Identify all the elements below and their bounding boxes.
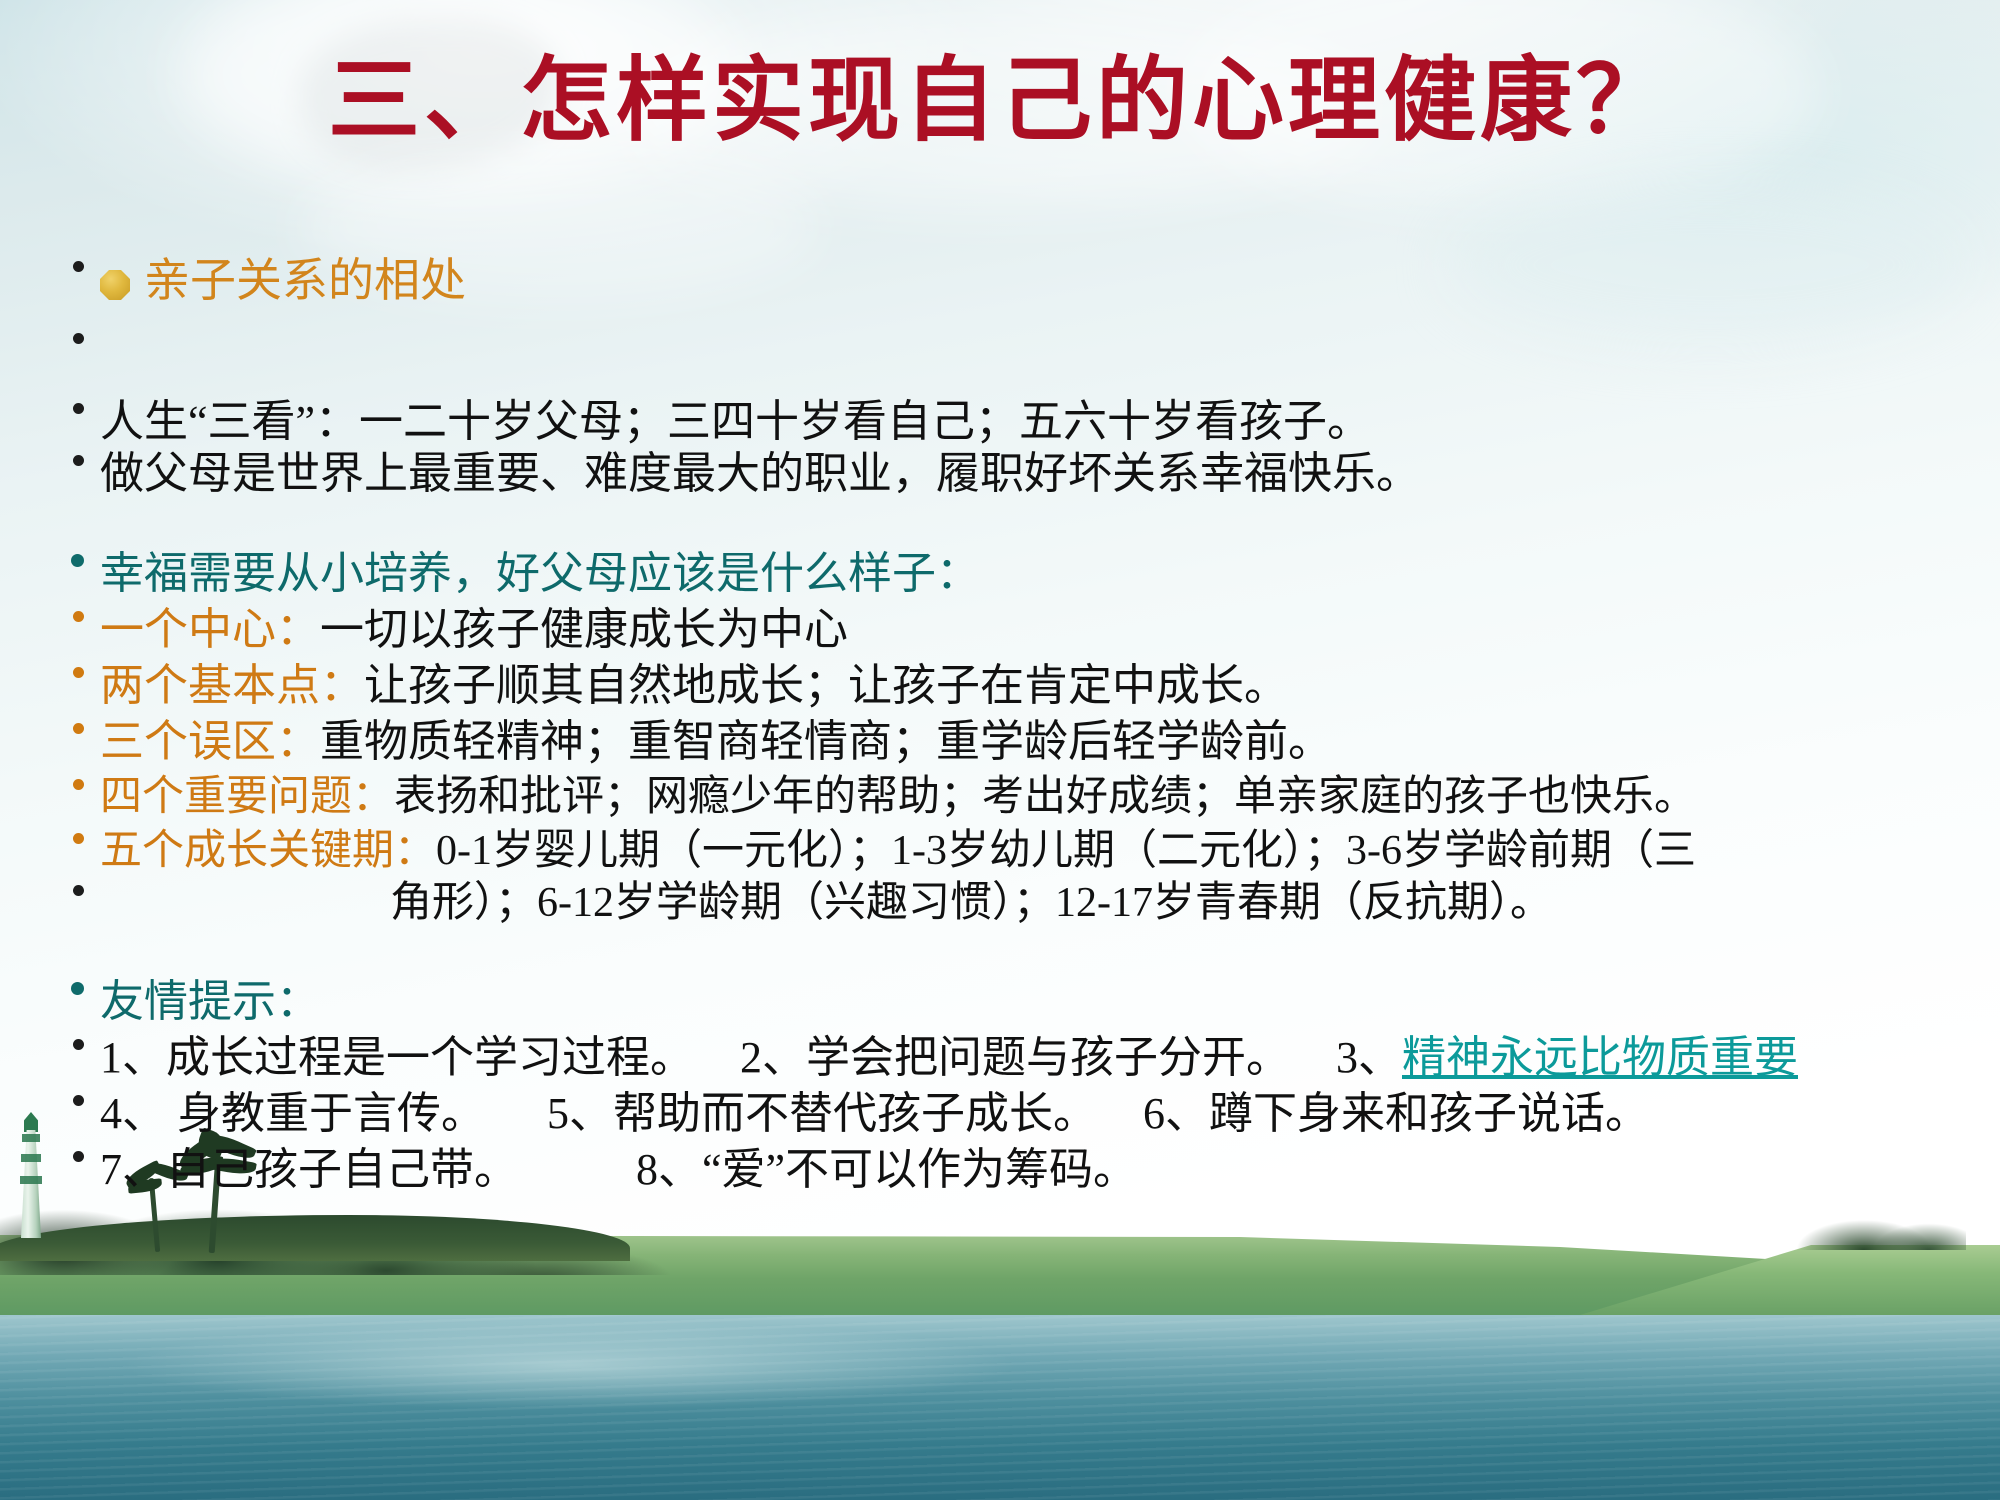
presentation-slide: 三、怎样实现自己的心理健康？ 亲子关系的相处 人生“三看”：一二十岁父母；三四十… <box>0 0 2000 1500</box>
section-heading-row: 亲子关系的相处 <box>0 258 2000 304</box>
hexagon-gold-icon <box>100 270 130 300</box>
tips-col-1: 4、 身教重于言传。 <box>100 1089 485 1138</box>
bullet-marker <box>0 830 100 846</box>
tips-col-2: 2、学会把问题与孩子分开。 <box>740 1033 1290 1082</box>
tips-col-3-number: 3、 <box>1336 1033 1402 1082</box>
section-heading: 亲子关系的相处 <box>100 258 2000 304</box>
item-key: 五个成长关键期： <box>100 828 436 874</box>
spacer <box>0 496 2000 552</box>
tips-row-1: 1、成长过程是一个学习过程。2、学会把问题与孩子分开。3、精神永远比物质重要 <box>100 1036 2000 1080</box>
bullet-marker <box>0 664 100 680</box>
tips-col-1: 1、成长过程是一个学习过程。 <box>100 1033 694 1082</box>
happiness-heading-row: 幸福需要从小培养，好父母应该是什么样子： <box>0 552 2000 596</box>
happiness-item-4: 四个重要问题：表扬和批评；网瘾少年的帮助；考出好成绩；单亲家庭的孩子也快乐。 <box>100 776 2000 818</box>
bullet-marker <box>0 980 100 996</box>
tips-col-1: 7、自己孩子自己带。 <box>100 1145 518 1194</box>
happiness-item-row: 两个基本点：让孩子顺其自然地成长；让孩子在肯定中成长。 <box>0 664 2000 708</box>
tips-col-3-text: 蹲下身来和孩子说话。 <box>1209 1089 1649 1138</box>
tips-row: 7、自己孩子自己带。8、“爱”不可以作为筹码。 <box>0 1148 2000 1192</box>
happiness-item-3: 三个误区：重物质轻精神；重智商轻情商；重学龄后轻学龄前。 <box>100 720 2000 764</box>
tips-heading-row: 友情提示： <box>0 980 2000 1024</box>
bullet-marker <box>0 720 100 736</box>
water-glow <box>120 1320 1020 1410</box>
spirit-over-material-link[interactable]: 精神永远比物质重要 <box>1402 1033 1798 1082</box>
intro-row-1: 人生“三看”：一二十岁父母；三四十岁看自己；五六十岁看孩子。 <box>0 400 2000 444</box>
bullet-marker <box>0 882 100 898</box>
slide-body: 亲子关系的相处 人生“三看”：一二十岁父母；三四十岁看自己；五六十岁看孩子。 做… <box>0 258 2000 1192</box>
item-key: 一个中心： <box>100 605 320 654</box>
item-value: 让孩子顺其自然地成长；让孩子在肯定中成长。 <box>364 661 1288 710</box>
happiness-continuation: 角形）；6-12岁学龄期（兴趣习惯）；12-17岁青春期（反抗期）。 <box>100 882 2000 924</box>
happiness-item-row: 一个中心：一切以孩子健康成长为中心 <box>0 608 2000 652</box>
item-value: 重物质轻精神；重智商轻情商；重学龄后轻学龄前。 <box>320 717 1332 766</box>
bullet-marker <box>0 776 100 792</box>
tips-row-3: 7、自己孩子自己带。8、“爱”不可以作为筹码。 <box>100 1148 2000 1192</box>
intro-line-2: 做父母是世界上最重要、难度最大的职业，履职好坏关系幸福快乐。 <box>100 452 2000 496</box>
bullet-marker <box>0 400 100 416</box>
right-hill-foliage <box>1796 1188 1966 1250</box>
happiness-item-row: 五个成长关键期：0-1岁婴儿期（一元化）；1-3岁幼儿期（二元化）；3-6岁学龄… <box>0 830 2000 872</box>
bullet-marker <box>0 608 100 624</box>
empty-line <box>100 330 2000 374</box>
empty-bullet-row <box>0 330 2000 374</box>
tips-heading: 友情提示： <box>100 980 2000 1024</box>
happiness-item-1: 一个中心：一切以孩子健康成长为中心 <box>100 608 2000 652</box>
happiness-item-5: 五个成长关键期：0-1岁婴儿期（一元化）；1-3岁幼儿期（二元化）；3-6岁学龄… <box>100 830 2000 872</box>
section-heading-label: 亲子关系的相处 <box>144 255 466 306</box>
item-key: 两个基本点： <box>100 661 364 710</box>
tips-row: 1、成长过程是一个学习过程。2、学会把问题与孩子分开。3、精神永远比物质重要 <box>0 1036 2000 1080</box>
item-key: 四个重要问题： <box>100 774 394 820</box>
happiness-heading: 幸福需要从小培养，好父母应该是什么样子： <box>100 552 2000 596</box>
bullet-marker <box>0 1036 100 1052</box>
bullet-marker <box>0 1148 100 1164</box>
intro-row-2: 做父母是世界上最重要、难度最大的职业，履职好坏关系幸福快乐。 <box>0 452 2000 496</box>
item-value: 表扬和批评；网瘾少年的帮助；考出好成绩；单亲家庭的孩子也快乐。 <box>394 774 1696 820</box>
intro-line-1: 人生“三看”：一二十岁父母；三四十岁看自己；五六十岁看孩子。 <box>100 400 2000 444</box>
item-value: 0-1岁婴儿期（一元化）；1-3岁幼儿期（二元化）；3-6岁学龄前期（三 <box>436 828 1696 874</box>
item-value: 一切以孩子健康成长为中心 <box>320 605 848 654</box>
happiness-continuation-row: 角形）；6-12岁学龄期（兴趣习惯）；12-17岁青春期（反抗期）。 <box>0 882 2000 924</box>
item-key: 三个误区： <box>100 717 320 766</box>
page-title: 三、怎样实现自己的心理健康？ <box>0 52 2000 151</box>
happiness-item-2: 两个基本点：让孩子顺其自然地成长；让孩子在肯定中成长。 <box>100 664 2000 708</box>
tips-col-3-number: 6、 <box>1143 1089 1209 1138</box>
bullet-marker <box>0 330 100 346</box>
bullet-marker <box>0 258 100 274</box>
bullet-marker <box>0 1092 100 1108</box>
happiness-item-row: 四个重要问题：表扬和批评；网瘾少年的帮助；考出好成绩；单亲家庭的孩子也快乐。 <box>0 776 2000 818</box>
happiness-item-row: 三个误区：重物质轻精神；重智商轻情商；重学龄后轻学龄前。 <box>0 720 2000 764</box>
bullet-marker <box>0 552 100 568</box>
tips-col-2: 5、帮助而不替代孩子成长。 <box>547 1089 1097 1138</box>
spacer <box>0 924 2000 980</box>
tips-row: 4、 身教重于言传。5、帮助而不替代孩子成长。6、蹲下身来和孩子说话。 <box>0 1092 2000 1136</box>
tips-col-2: 8、“爱”不可以作为筹码。 <box>636 1145 1137 1194</box>
bullet-marker <box>0 452 100 468</box>
tips-row-2: 4、 身教重于言传。5、帮助而不替代孩子成长。6、蹲下身来和孩子说话。 <box>100 1092 2000 1136</box>
